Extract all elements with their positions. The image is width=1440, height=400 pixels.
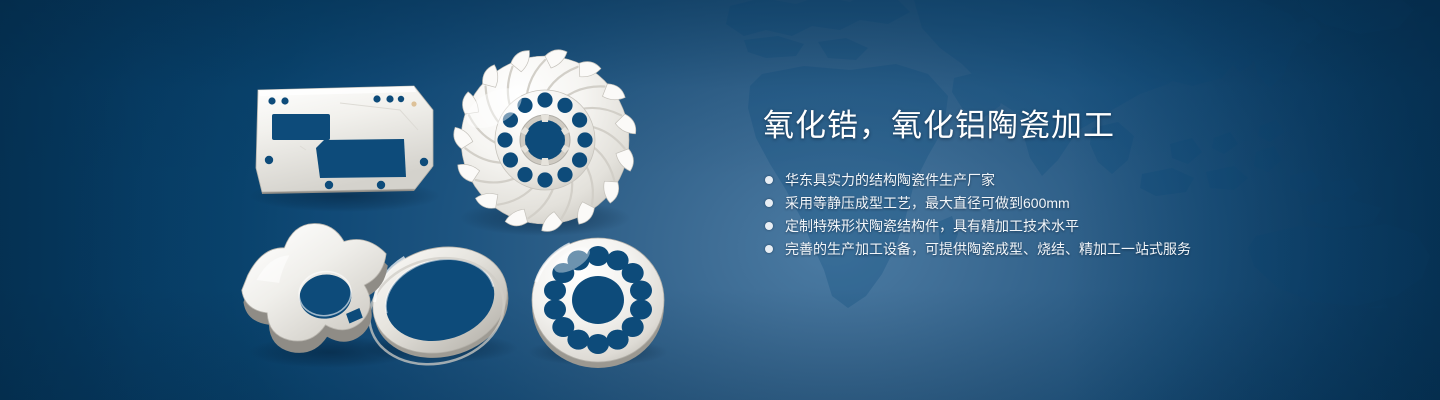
list-item: 定制特殊形状陶瓷结构件，具有精加工技术水平: [763, 218, 1383, 234]
list-item-label: 采用等静压成型工艺，最大直径可做到600mm: [785, 195, 1070, 211]
feature-list: 华东具实力的结构陶瓷件生产厂家 采用等静压成型工艺，最大直径可做到600mm 定…: [763, 172, 1383, 257]
ceramic-impeller-disc: [453, 49, 638, 233]
list-item-label: 定制特殊形状陶瓷结构件，具有精加工技术水平: [785, 218, 1079, 234]
bullet-dot-icon: [765, 176, 773, 184]
bullet-dot-icon: [765, 199, 773, 207]
hero-banner: 氧化锆，氧化铝陶瓷加工 华东具实力的结构陶瓷件生产厂家 采用等静压成型工艺，最大…: [0, 0, 1440, 400]
ceramic-mounting-plate: [256, 86, 433, 194]
list-item: 完善的生产加工设备，可提供陶瓷成型、烧结、精加工一站式服务: [763, 241, 1383, 257]
list-item-label: 完善的生产加工设备，可提供陶瓷成型、烧结、精加工一站式服务: [785, 241, 1191, 257]
list-item: 采用等静压成型工艺，最大直径可做到600mm: [763, 195, 1383, 211]
page-title: 氧化锆，氧化铝陶瓷加工: [763, 106, 1383, 146]
list-item: 华东具实力的结构陶瓷件生产厂家: [763, 172, 1383, 188]
banner-text-block: 氧化锆，氧化铝陶瓷加工 华东具实力的结构陶瓷件生产厂家 采用等静压成型工艺，最大…: [763, 106, 1383, 264]
ceramic-perforated-disc: [532, 238, 664, 368]
bullet-dot-icon: [765, 222, 773, 230]
list-item-label: 华东具实力的结构陶瓷件生产厂家: [785, 172, 995, 188]
bullet-dot-icon: [765, 245, 773, 253]
ceramic-products-group: [0, 0, 760, 400]
